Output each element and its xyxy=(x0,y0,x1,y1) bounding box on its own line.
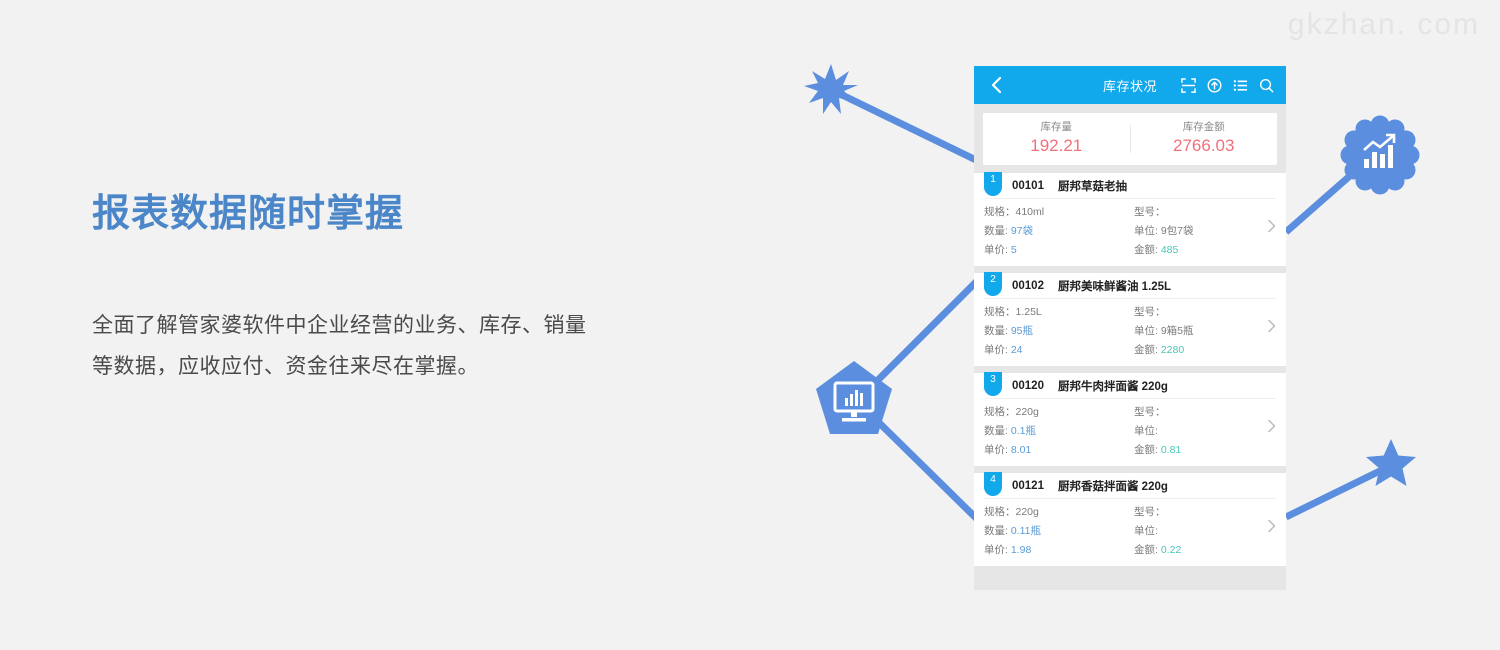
amount-value: 485 xyxy=(1161,244,1179,256)
spec-label: 规格： xyxy=(984,306,1016,318)
summary-label: 库存金额 xyxy=(1131,120,1278,136)
item-detail-grid: 规格：220g 型号： 数量: 0.1瓶 单位: 单价: 8.01 金额: 0.… xyxy=(984,404,1276,459)
index-badge: 1 xyxy=(984,172,1002,196)
qty-value: 95瓶 xyxy=(1011,325,1033,337)
item-name: 厨邦美味鲜酱油 1.25L xyxy=(1058,278,1171,294)
inventory-list: 1 00101 厨邦草菇老抽 规格：410ml 型号： 数量: 97袋 单位: … xyxy=(974,173,1286,566)
list-item[interactable]: 3 00120 厨邦牛肉拌面酱 220g 规格：220g 型号： 数量: 0.1… xyxy=(974,373,1286,466)
item-code: 00120 xyxy=(1012,380,1044,392)
summary-value: 192.21 xyxy=(983,135,1130,158)
spec-value: 220g xyxy=(1016,406,1039,418)
item-name: 厨邦牛肉拌面酱 220g xyxy=(1058,378,1168,394)
burst-star-icon xyxy=(804,64,858,114)
item-detail-grid: 规格：220g 型号： 数量: 0.11瓶 单位: 单价: 1.98 金额: 0… xyxy=(984,504,1276,559)
list-item-header: 4 00121 厨邦香菇拌面酱 220g xyxy=(984,473,1276,499)
summary-card: 库存量 192.21 库存金额 2766.03 xyxy=(983,113,1277,165)
spec-label: 规格： xyxy=(984,406,1016,418)
scan-frame-icon[interactable] xyxy=(1181,78,1196,93)
list-icon[interactable] xyxy=(1233,78,1248,93)
item-code: 00121 xyxy=(1012,480,1044,492)
item-name: 厨邦香菇拌面酱 220g xyxy=(1058,478,1168,494)
qty-label: 数量: xyxy=(984,325,1008,337)
item-name: 厨邦草菇老抽 xyxy=(1058,178,1127,194)
index-badge-number: 4 xyxy=(984,474,1002,485)
list-item-header: 2 00102 厨邦美味鲜酱油 1.25L xyxy=(984,273,1276,299)
price-value: 24 xyxy=(1011,344,1023,356)
list-footer-space xyxy=(974,573,1286,590)
amount-value: 0.22 xyxy=(1161,544,1181,556)
phone-mockup: 库存状况 xyxy=(974,66,1286,590)
unit-label: 单位: xyxy=(1134,425,1158,437)
amount-label: 金额: xyxy=(1134,344,1158,356)
list-item-header: 1 00101 厨邦草菇老抽 xyxy=(984,173,1276,199)
amount-value: 2280 xyxy=(1161,344,1184,356)
index-badge: 4 xyxy=(984,472,1002,496)
index-badge: 2 xyxy=(984,272,1002,296)
qty-label: 数量: xyxy=(984,425,1008,437)
summary-cell-amount: 库存金额 2766.03 xyxy=(1131,120,1278,159)
chevron-left-icon[interactable] xyxy=(986,74,1008,96)
price-label: 单价: xyxy=(984,544,1008,556)
qty-value: 0.11瓶 xyxy=(1011,525,1041,537)
pentagon-monitor-chart-icon xyxy=(816,361,892,434)
model-label: 型号： xyxy=(1134,506,1166,518)
scalloped-badge-chart-icon xyxy=(1341,116,1420,195)
unit-label: 单位: xyxy=(1134,325,1158,337)
price-label: 单价: xyxy=(984,344,1008,356)
search-icon[interactable] xyxy=(1259,78,1274,93)
model-label: 型号： xyxy=(1134,406,1166,418)
price-value: 5 xyxy=(1011,244,1017,256)
summary-value: 2766.03 xyxy=(1131,135,1278,158)
list-item[interactable]: 1 00101 厨邦草菇老抽 规格：410ml 型号： 数量: 97袋 单位: … xyxy=(974,173,1286,266)
five-point-star-icon xyxy=(1366,439,1416,486)
spec-value: 410ml xyxy=(1016,206,1045,218)
item-detail-grid: 规格：410ml 型号： 数量: 97袋 单位: 9包7袋 单价: 5 金额: … xyxy=(984,204,1276,259)
qty-label: 数量: xyxy=(984,225,1008,237)
app-topbar: 库存状况 xyxy=(974,66,1286,104)
qty-value: 97袋 xyxy=(1011,225,1033,237)
price-value: 8.01 xyxy=(1011,444,1031,456)
list-item-header: 3 00120 厨邦牛肉拌面酱 220g xyxy=(984,373,1276,399)
unit-value: 9包7袋 xyxy=(1161,225,1194,237)
index-badge-number: 2 xyxy=(984,274,1002,285)
unit-label: 单位: xyxy=(1134,525,1158,537)
chevron-right-icon[interactable] xyxy=(1267,519,1276,533)
item-code: 00101 xyxy=(1012,180,1044,192)
amount-value: 0.81 xyxy=(1161,444,1181,456)
summary-label: 库存量 xyxy=(983,120,1130,136)
list-item[interactable]: 4 00121 厨邦香菇拌面酱 220g 规格：220g 型号： 数量: 0.1… xyxy=(974,473,1286,566)
connector-line-right-lower xyxy=(1286,466,1390,517)
qty-label: 数量: xyxy=(984,525,1008,537)
spec-value: 1.25L xyxy=(1016,306,1042,318)
connector-line-top xyxy=(836,92,976,160)
price-value: 1.98 xyxy=(1011,544,1031,556)
chevron-right-icon[interactable] xyxy=(1267,319,1276,333)
summary-cell-quantity: 库存量 192.21 xyxy=(983,120,1130,159)
item-detail-grid: 规格：1.25L 型号： 数量: 95瓶 单位: 9箱5瓶 单价: 24 金额:… xyxy=(984,304,1276,359)
amount-label: 金额: xyxy=(1134,244,1158,256)
qty-value: 0.1瓶 xyxy=(1011,425,1036,437)
unit-label: 单位: xyxy=(1134,225,1158,237)
chevron-right-icon[interactable] xyxy=(1267,419,1276,433)
model-label: 型号： xyxy=(1134,306,1166,318)
list-item[interactable]: 2 00102 厨邦美味鲜酱油 1.25L 规格：1.25L 型号： 数量: 9… xyxy=(974,273,1286,366)
spec-label: 规格： xyxy=(984,206,1016,218)
spec-value: 220g xyxy=(1016,506,1039,518)
amount-label: 金额: xyxy=(1134,444,1158,456)
price-label: 单价: xyxy=(984,244,1008,256)
topbar-actions xyxy=(1181,78,1274,93)
index-badge-number: 3 xyxy=(984,374,1002,385)
index-badge-number: 1 xyxy=(984,174,1002,185)
circle-arrow-up-icon[interactable] xyxy=(1207,78,1222,93)
amount-label: 金额: xyxy=(1134,544,1158,556)
item-code: 00102 xyxy=(1012,280,1044,292)
chevron-right-icon[interactable] xyxy=(1267,219,1276,233)
price-label: 单价: xyxy=(984,444,1008,456)
unit-value: 9箱5瓶 xyxy=(1161,325,1194,337)
model-label: 型号： xyxy=(1134,206,1166,218)
index-badge: 3 xyxy=(984,372,1002,396)
spec-label: 规格： xyxy=(984,506,1016,518)
poster-canvas: gkzhan. com 报表数据随时掌握 全面了解管家婆软件中企业经营的业务、库… xyxy=(0,0,1500,650)
